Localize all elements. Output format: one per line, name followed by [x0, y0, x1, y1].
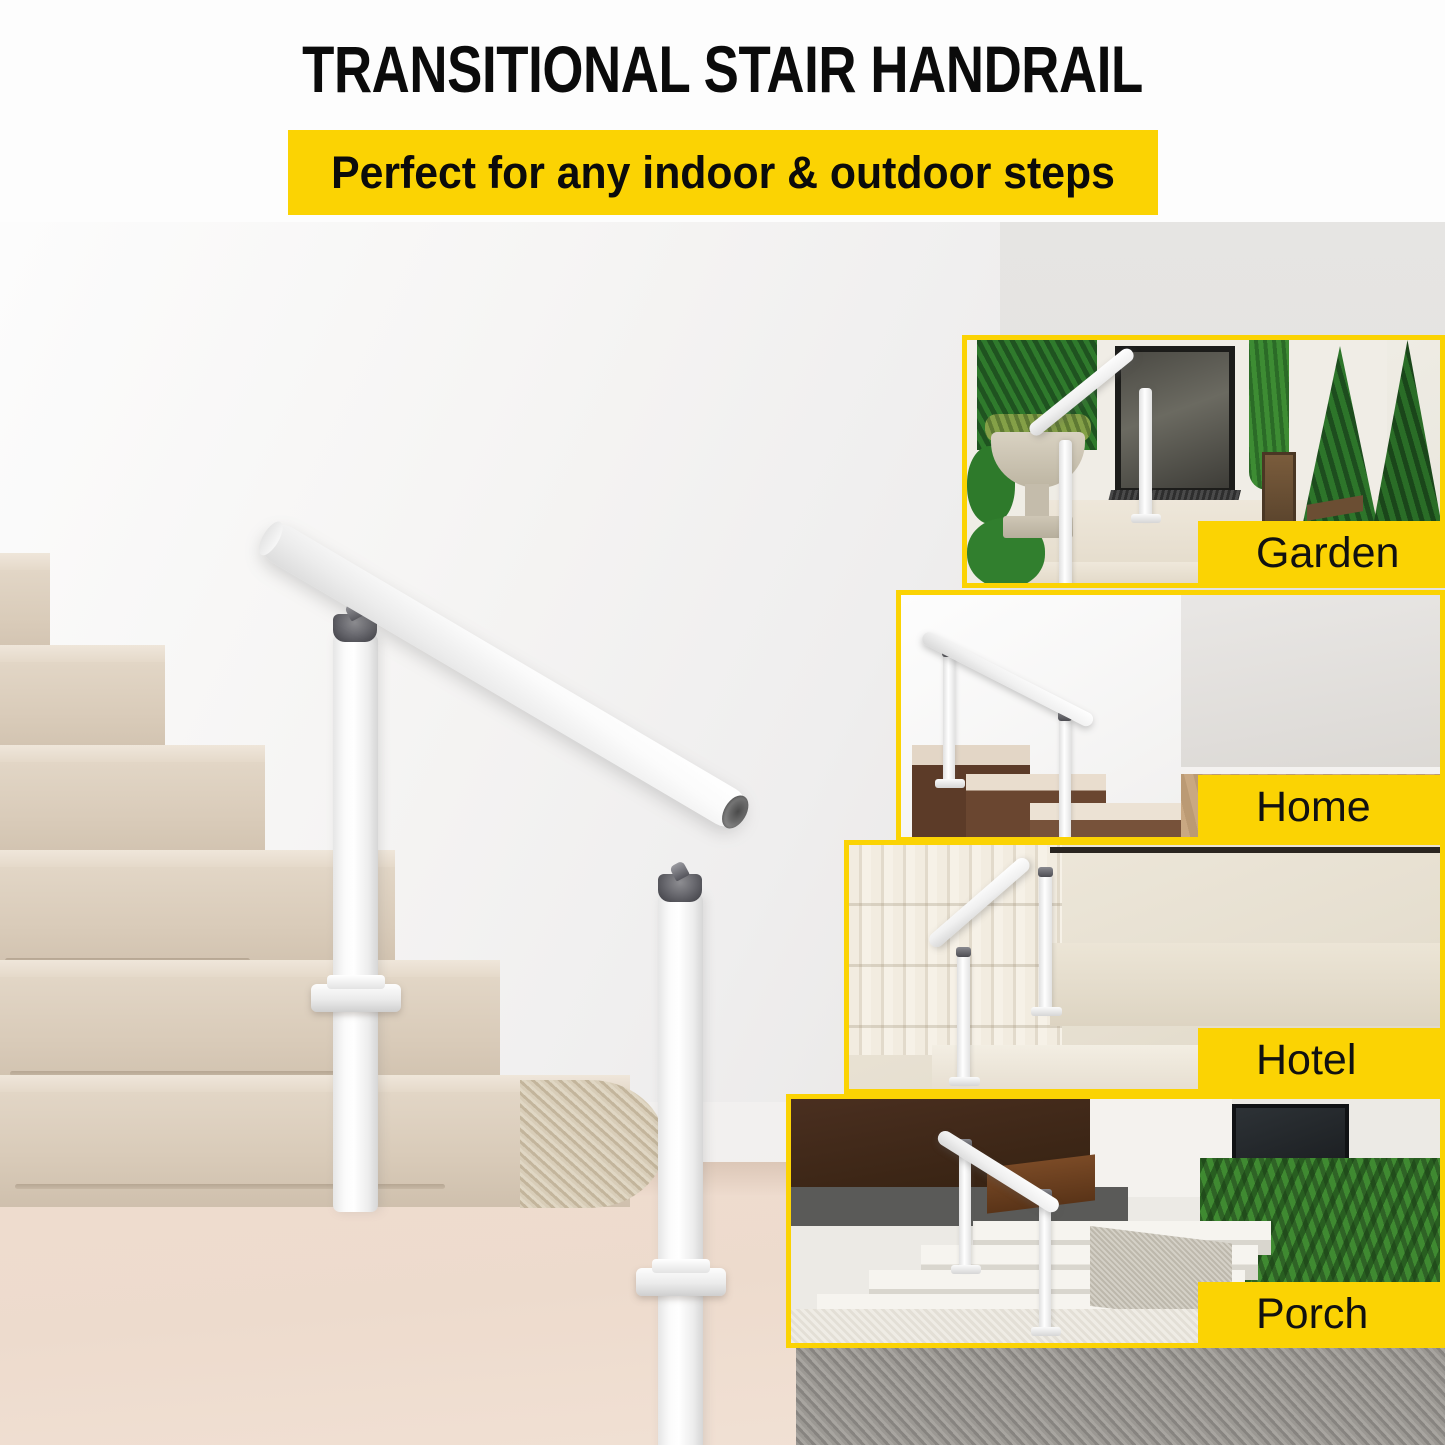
home-handrail-post-1	[943, 653, 955, 785]
bottom-gravel-strip	[796, 1348, 1445, 1445]
garden-glass-door	[1115, 346, 1235, 494]
use-case-label-hotel-text: Hotel	[1256, 1036, 1356, 1085]
home-handrail-foot-1	[935, 779, 965, 788]
use-case-label-home-text: Home	[1256, 783, 1371, 832]
handrail-post-right	[658, 894, 703, 1445]
hotel-ceiling-shadow	[1050, 847, 1440, 853]
handrail-bracket-right	[658, 874, 702, 902]
garden-handrail-post-1	[1059, 440, 1072, 583]
home-handrail-post-2	[1059, 717, 1071, 837]
product-marketing-image: TRANSITIONAL STAIR HANDRAIL Perfect for …	[0, 0, 1445, 1445]
use-case-label-hotel: Hotel	[1198, 1028, 1445, 1092]
page-title: TRANSITIONAL STAIR HANDRAIL	[145, 34, 1301, 104]
handrail-baseplate-left	[311, 984, 401, 1012]
use-case-label-porch: Porch	[1198, 1282, 1445, 1346]
use-case-panel-hotel[interactable]: Hotel	[844, 840, 1445, 1094]
garden-urn-planter	[985, 432, 1091, 552]
use-case-label-garden-text: Garden	[1256, 529, 1399, 578]
use-case-panel-garden[interactable]: Garden	[962, 335, 1445, 588]
use-case-label-porch-text: Porch	[1256, 1290, 1368, 1339]
porch-handrail-foot-1	[951, 1265, 981, 1274]
hotel-handrail-post-1	[957, 953, 970, 1083]
hotel-handrail-bracket-2	[1038, 867, 1053, 877]
handrail-baseplate-right	[636, 1268, 726, 1296]
hotel-handrail-post-2	[1039, 873, 1052, 1013]
garden-handrail-post-2	[1139, 388, 1152, 520]
use-case-label-home: Home	[1198, 775, 1445, 840]
porch-handrail-post-1	[959, 1145, 971, 1271]
hotel-handrail-bracket-1	[956, 947, 971, 957]
use-case-panel-home[interactable]: Home	[896, 590, 1445, 842]
home-step-3	[1030, 803, 1181, 837]
page-subtitle: Perfect for any indoor & outdoor steps	[310, 130, 1137, 215]
use-case-label-garden: Garden	[1198, 521, 1445, 586]
hotel-handrail-foot-1	[949, 1077, 980, 1086]
use-case-panel-porch[interactable]: Porch	[786, 1094, 1445, 1348]
porch-handrail-post-2	[1039, 1195, 1051, 1333]
handrail-post-left	[333, 634, 378, 1212]
hotel-handrail-foot-2	[1031, 1007, 1062, 1016]
garden-handrail-foot-2	[1131, 514, 1161, 523]
stair-curved-nosing	[520, 1080, 665, 1208]
porch-handrail-foot-2	[1031, 1327, 1061, 1336]
